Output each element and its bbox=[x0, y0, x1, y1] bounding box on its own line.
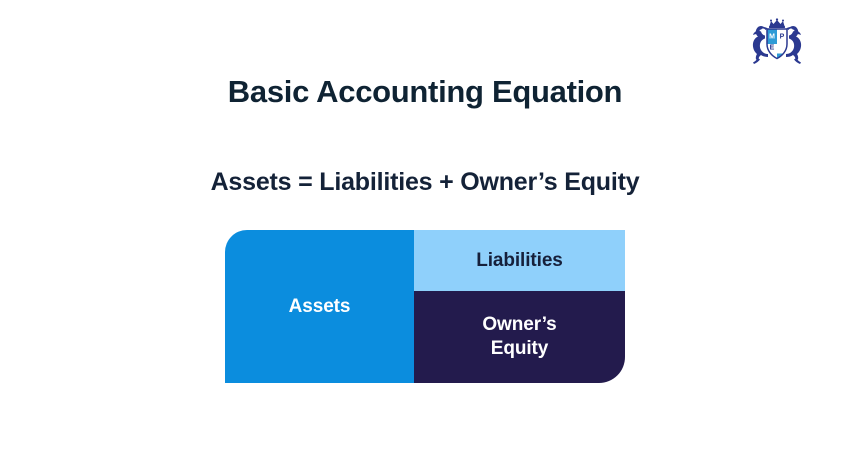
lion-right-icon bbox=[786, 26, 801, 64]
assets-block-label: Assets bbox=[289, 295, 351, 319]
liabilities-block-label: Liabilities bbox=[476, 249, 563, 273]
accounting-equation-diagram: Assets Liabilities Owner’s Equity bbox=[225, 230, 625, 383]
equation-text: Assets = Liabilities + Owner’s Equity bbox=[0, 164, 850, 200]
shield-icon: M P E S bbox=[767, 29, 787, 59]
svg-text:E: E bbox=[770, 45, 775, 52]
svg-text:S: S bbox=[780, 45, 785, 52]
svg-text:M: M bbox=[769, 34, 775, 41]
page-title: Basic Accounting Equation bbox=[0, 70, 850, 114]
slide-canvas: M P E S Basic Accounting Equation Assets… bbox=[0, 0, 850, 450]
crown-icon bbox=[769, 18, 785, 28]
mpes-crest-logo: M P E S bbox=[746, 16, 808, 66]
owners-equity-block: Owner’s Equity bbox=[414, 291, 625, 383]
lion-left-icon bbox=[753, 26, 768, 64]
assets-block: Assets bbox=[225, 230, 414, 383]
owners-equity-block-label: Owner’s Equity bbox=[482, 313, 556, 361]
svg-text:P: P bbox=[780, 34, 785, 41]
liabilities-block: Liabilities bbox=[414, 230, 625, 291]
